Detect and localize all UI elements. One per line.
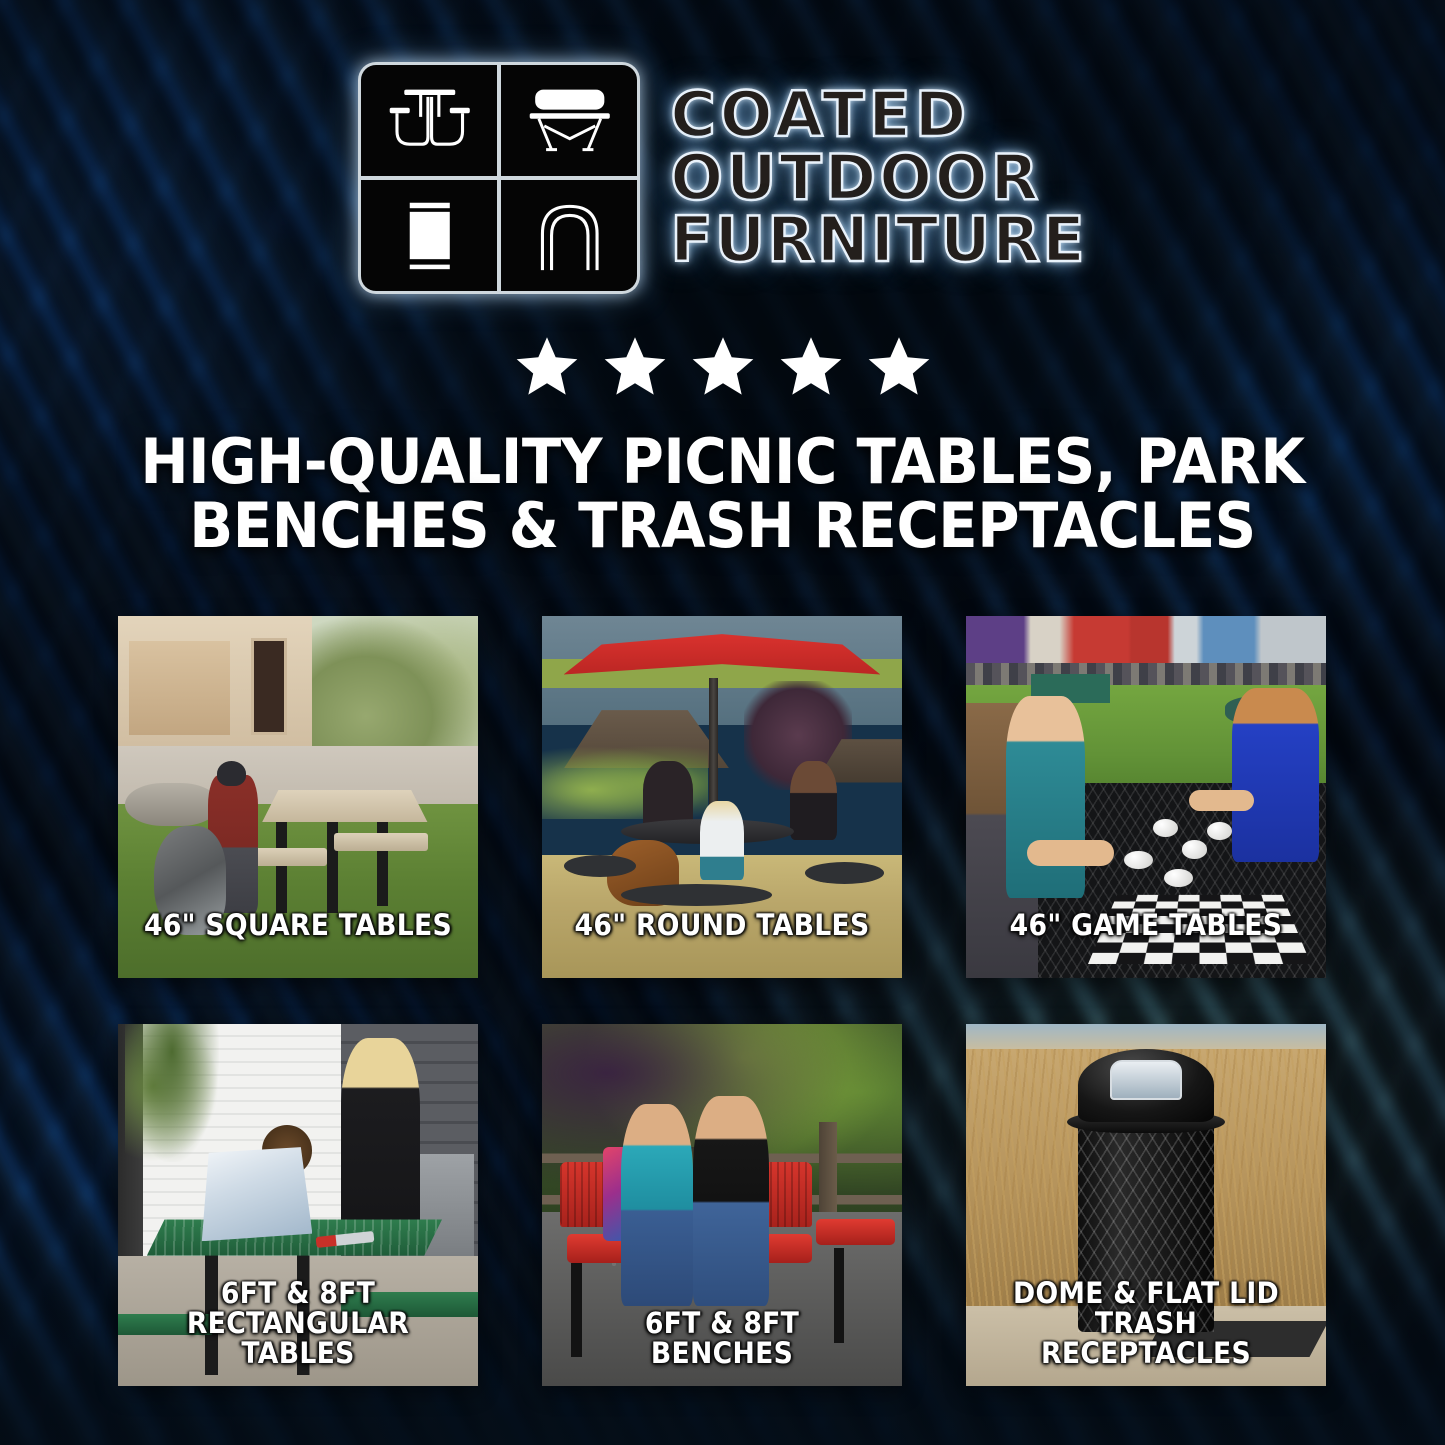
product-tile-game-tables[interactable]: 46" GAME TABLES bbox=[966, 616, 1326, 978]
star-icon-5 bbox=[865, 334, 933, 399]
marketing-poster: COATED OUTDOOR FURNITURE HIGH-QUALITY PI… bbox=[0, 0, 1445, 1445]
product-caption-trash-receptacles: DOME & FLAT LID TRASH RECEPTACLES bbox=[972, 1278, 1320, 1368]
star-icon-3 bbox=[689, 334, 757, 399]
picnic-table-icon bbox=[361, 65, 497, 176]
trash-receptacle-icon bbox=[361, 180, 497, 291]
star-icon-2 bbox=[601, 334, 669, 399]
headline-line-2: BENCHES & TRASH RECEPTACLES bbox=[116, 494, 1330, 558]
product-caption-round-tables: 46" ROUND TABLES bbox=[548, 910, 896, 940]
product-tile-square-tables[interactable]: 46" SQUARE TABLES bbox=[118, 616, 478, 978]
product-tile-round-tables[interactable]: 46" ROUND TABLES bbox=[542, 616, 902, 978]
wordmark-line-3: FURNITURE bbox=[670, 210, 1086, 271]
logo-icon-grid bbox=[358, 62, 640, 294]
product-tile-rectangular-tables[interactable]: 6FT & 8FT RECTANGULAR TABLES bbox=[118, 1024, 478, 1386]
star-rating bbox=[0, 334, 1445, 399]
brand-wordmark: COATED OUTDOOR FURNITURE bbox=[670, 85, 1086, 271]
product-grid: 46" SQUARE TABLES 46" ROUND TABLES bbox=[118, 616, 1327, 1386]
headline-line-1: HIGH-QUALITY PICNIC TABLES, PARK bbox=[116, 430, 1330, 494]
product-caption-rectangular-tables: 6FT & 8FT RECTANGULAR TABLES bbox=[124, 1278, 472, 1368]
product-caption-game-tables: 46" GAME TABLES bbox=[972, 910, 1320, 940]
brand-logo: COATED OUTDOOR FURNITURE bbox=[0, 62, 1445, 294]
product-tile-trash-receptacles[interactable]: DOME & FLAT LID TRASH RECEPTACLES bbox=[966, 1024, 1326, 1386]
product-caption-benches: 6FT & 8FT BENCHES bbox=[548, 1308, 896, 1368]
headline: HIGH-QUALITY PICNIC TABLES, PARK BENCHES… bbox=[70, 430, 1375, 558]
product-tile-benches[interactable]: 6FT & 8FT BENCHES bbox=[542, 1024, 902, 1386]
wordmark-line-1: COATED bbox=[670, 85, 1086, 146]
product-caption-square-tables: 46" SQUARE TABLES bbox=[124, 910, 472, 940]
bike-rack-icon bbox=[501, 180, 637, 291]
wordmark-line-2: OUTDOOR bbox=[670, 148, 1086, 209]
bench-icon bbox=[501, 65, 637, 176]
star-icon-4 bbox=[777, 334, 845, 399]
star-icon-1 bbox=[513, 334, 581, 399]
